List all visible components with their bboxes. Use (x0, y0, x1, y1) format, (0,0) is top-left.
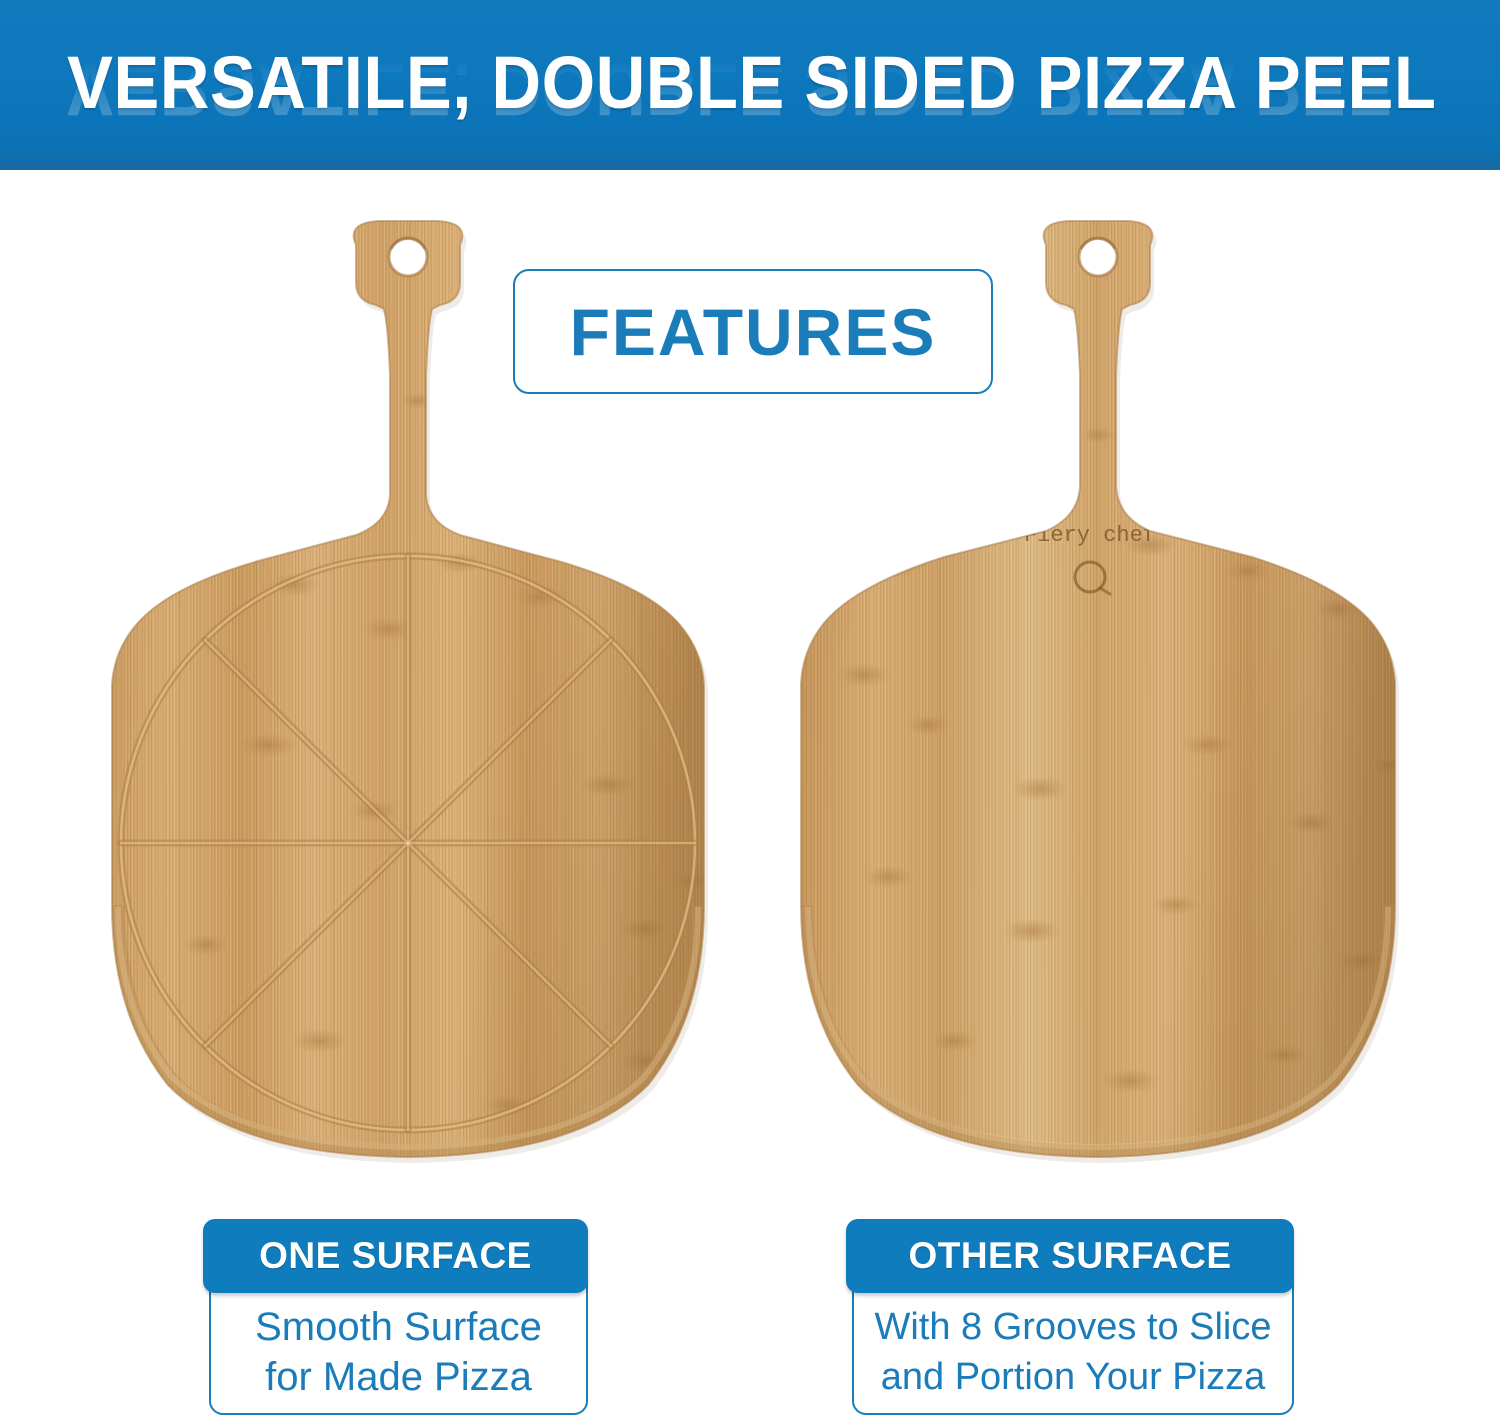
caption-card-one-surface: Smooth Surface for Made Pizza ONE SURFAC… (203, 1219, 588, 1415)
board-right-illustration: Fiery chef (778, 205, 1418, 1165)
pizza-peel-board-right: Fiery chef (778, 205, 1418, 1165)
caption-heading-one-surface: ONE SURFACE (259, 1235, 532, 1277)
caption-header-other-surface: OTHER SURFACE (846, 1219, 1294, 1293)
board-left-illustration (88, 205, 728, 1165)
brand-engraving-text: Fiery chef (1024, 523, 1156, 548)
header-banner: VERSATILE, DOUBLE SIDED PIZZA PEEL VERSA… (0, 0, 1500, 170)
handle-hang-hole (1079, 238, 1117, 276)
pizza-peel-board-left (88, 205, 728, 1165)
caption-heading-other-surface: OTHER SURFACE (908, 1235, 1231, 1277)
board-surface (778, 205, 1418, 1165)
caption-card-other-surface: With 8 Grooves to Slice and Portion Your… (846, 1219, 1294, 1415)
header-title-stack: VERSATILE, DOUBLE SIDED PIZZA PEEL VERSA… (0, 46, 1500, 170)
pizza-slice-grooves (121, 556, 695, 1130)
handle-hang-hole (389, 238, 427, 276)
caption-text-other-surface: With 8 Grooves to Slice and Portion Your… (874, 1302, 1271, 1406)
caption-text-one-surface: Smooth Surface for Made Pizza (255, 1302, 542, 1406)
banner-bottom-rule (0, 164, 1500, 170)
page-title-reflection: VERSATILE, DOUBLE SIDED PIZZA PEEL (0, 52, 1395, 126)
caption-header-one-surface: ONE SURFACE (203, 1219, 588, 1293)
